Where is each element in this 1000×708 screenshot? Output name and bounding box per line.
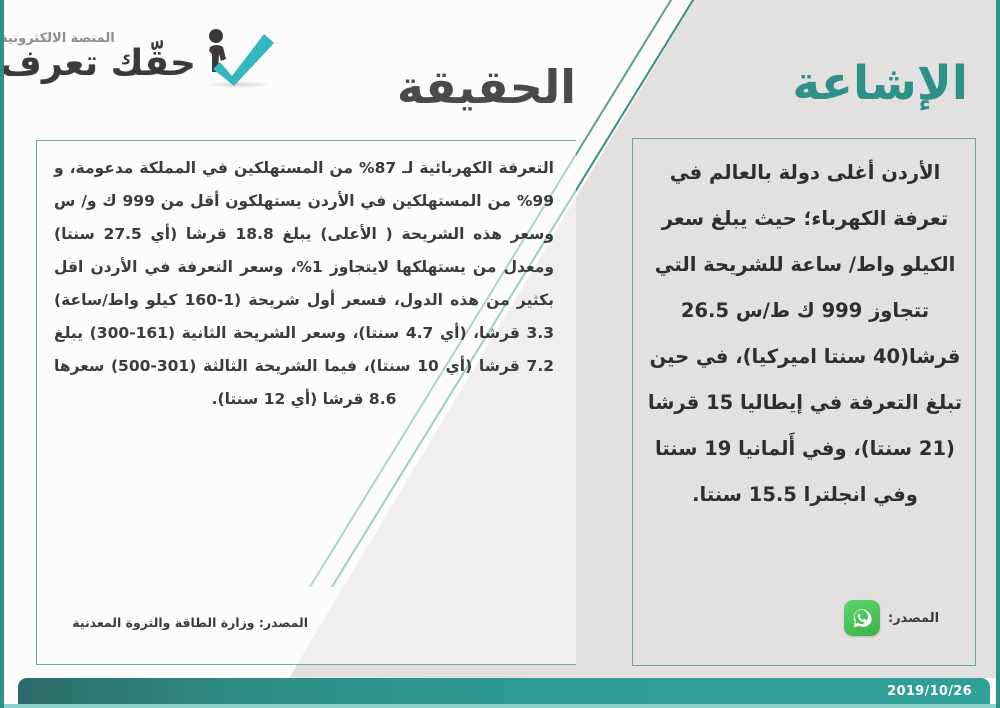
whatsapp-icon [844,600,880,636]
footer-accent-rule [4,704,1000,708]
logo-mark [200,24,278,90]
rumor-source-label: المصدر: [888,611,939,626]
rumor-heading: الإشاعة [792,56,968,111]
truth-source: المصدر: وزارة الطاقة والثروة المعدنية [48,615,308,630]
footer-bar: 2019/10/26 [18,678,990,704]
logo-wordmark: المنصة الالكترونية حقّك تعرف [0,32,196,82]
footer-date: 2019/10/26 [887,684,972,699]
logo-shadow [206,81,272,88]
logo-title: حقّك تعرف [0,46,196,82]
rumor-source: المصدر: [844,600,939,636]
brand-logo[interactable]: المنصة الالكترونية حقّك تعرف [23,14,278,100]
infographic-canvas: المنصة الالكترونية حقّك تعرف الحقيقة الإ… [0,0,1000,708]
rumor-body-text: الأردن أغلى دولة بالعالم في تعرفة الكهرب… [640,150,970,518]
truth-heading: الحقيقة [397,60,576,114]
whatsapp-glyph [851,607,873,629]
truth-body-text: التعرفة الكهربائية لـ 87% من المستهلكين … [54,152,554,416]
